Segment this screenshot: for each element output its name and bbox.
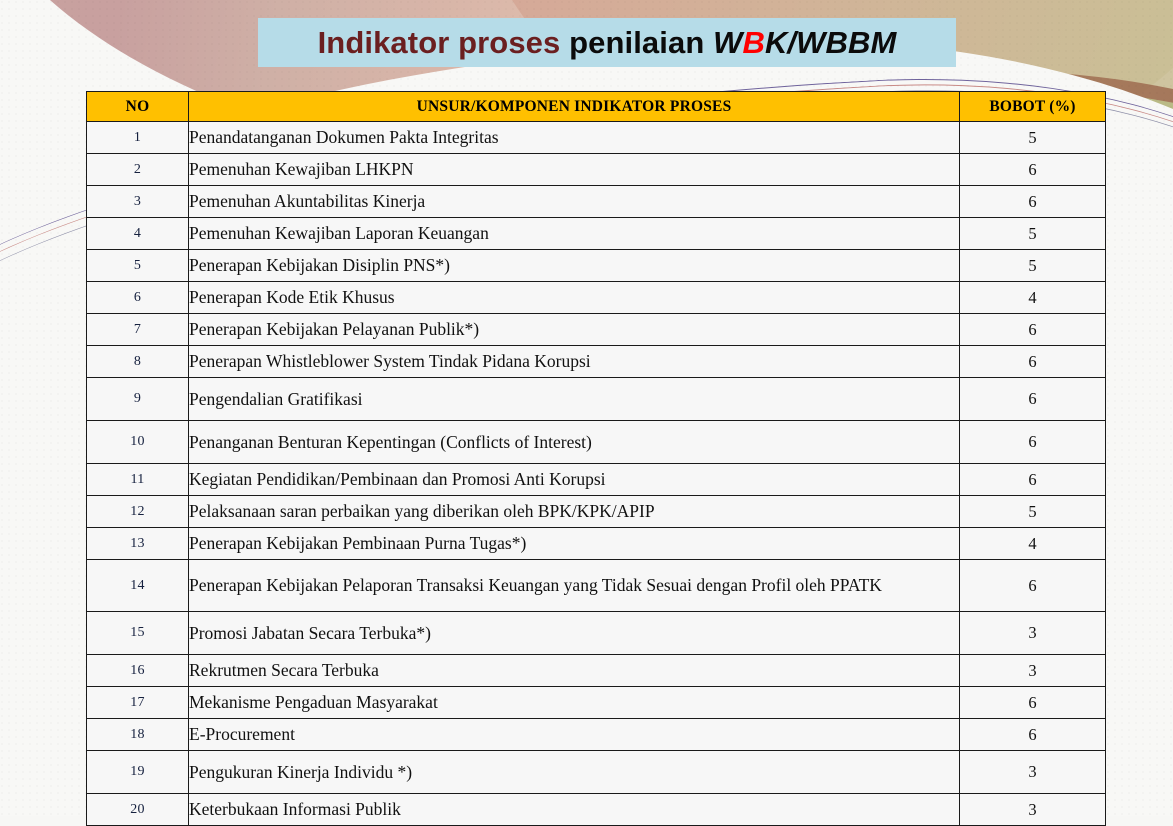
table-row: 2Pemenuhan Kewajiban LHKPN6 (87, 154, 1106, 186)
cell-no: 9 (87, 378, 189, 421)
cell-unsur: Promosi Jabatan Secara Terbuka*) (189, 612, 960, 655)
cell-bobot: 3 (960, 655, 1106, 687)
cell-no: 18 (87, 719, 189, 751)
cell-bobot: 6 (960, 687, 1106, 719)
cell-unsur: E-Procurement (189, 719, 960, 751)
cell-bobot: 3 (960, 612, 1106, 655)
cell-bobot: 5 (960, 496, 1106, 528)
cell-unsur: Rekrutmen Secara Terbuka (189, 655, 960, 687)
cell-no: 15 (87, 612, 189, 655)
table-row: 16Rekrutmen Secara Terbuka3 (87, 655, 1106, 687)
cell-unsur: Pemenuhan Kewajiban Laporan Keuangan (189, 218, 960, 250)
cell-unsur: Penerapan Kebijakan Pelaporan Transaksi … (189, 560, 960, 612)
page-title-part-3: B (742, 25, 765, 60)
cell-no: 14 (87, 560, 189, 612)
cell-unsur: Mekanisme Pengaduan Masyarakat (189, 687, 960, 719)
cell-bobot: 6 (960, 314, 1106, 346)
cell-unsur: Penandatanganan Dokumen Pakta Integritas (189, 122, 960, 154)
column-header-no: NO (87, 92, 189, 122)
table-row: 1Penandatanganan Dokumen Pakta Integrita… (87, 122, 1106, 154)
cell-unsur: Penerapan Kebijakan Pelayanan Publik*) (189, 314, 960, 346)
cell-bobot: 5 (960, 122, 1106, 154)
cell-bobot: 6 (960, 464, 1106, 496)
cell-bobot: 6 (960, 186, 1106, 218)
cell-no: 16 (87, 655, 189, 687)
cell-no: 10 (87, 421, 189, 464)
table-row: 8Penerapan Whistleblower System Tindak P… (87, 346, 1106, 378)
table-row: 15Promosi Jabatan Secara Terbuka*)3 (87, 612, 1106, 655)
table-row: 10Penanganan Benturan Kepentingan (Confl… (87, 421, 1106, 464)
table-row: 18E-Procurement6 (87, 719, 1106, 751)
table-header-row: NO UNSUR/KOMPONEN INDIKATOR PROSES BOBOT… (87, 92, 1106, 122)
page-title-part-1: penilaian (560, 25, 713, 60)
cell-no: 5 (87, 250, 189, 282)
cell-no: 3 (87, 186, 189, 218)
table-row: 11Kegiatan Pendidikan/Pembinaan dan Prom… (87, 464, 1106, 496)
cell-no: 12 (87, 496, 189, 528)
cell-bobot: 3 (960, 794, 1106, 826)
page-title-part-0: Indikator proses (318, 25, 561, 60)
cell-bobot: 4 (960, 528, 1106, 560)
cell-no: 2 (87, 154, 189, 186)
cell-no: 1 (87, 122, 189, 154)
cell-bobot: 6 (960, 421, 1106, 464)
column-header-unsur: UNSUR/KOMPONEN INDIKATOR PROSES (189, 92, 960, 122)
table-row: 12Pelaksanaan saran perbaikan yang diber… (87, 496, 1106, 528)
table-row: 4Pemenuhan Kewajiban Laporan Keuangan5 (87, 218, 1106, 250)
cell-bobot: 5 (960, 250, 1106, 282)
cell-no: 4 (87, 218, 189, 250)
cell-bobot: 6 (960, 346, 1106, 378)
cell-unsur: Pelaksanaan saran perbaikan yang diberik… (189, 496, 960, 528)
indicator-table: NO UNSUR/KOMPONEN INDIKATOR PROSES BOBOT… (86, 91, 1106, 826)
cell-no: 8 (87, 346, 189, 378)
cell-unsur: Pemenuhan Kewajiban LHKPN (189, 154, 960, 186)
cell-unsur: Keterbukaan Informasi Publik (189, 794, 960, 826)
column-header-bobot: BOBOT (%) (960, 92, 1106, 122)
cell-no: 11 (87, 464, 189, 496)
cell-no: 13 (87, 528, 189, 560)
page-title-part-2: W (713, 25, 742, 60)
cell-no: 6 (87, 282, 189, 314)
table-row: 9Pengendalian Gratifikasi6 (87, 378, 1106, 421)
table-header: NO UNSUR/KOMPONEN INDIKATOR PROSES BOBOT… (87, 92, 1106, 122)
cell-unsur: Penanganan Benturan Kepentingan (Conflic… (189, 421, 960, 464)
cell-no: 20 (87, 794, 189, 826)
cell-no: 7 (87, 314, 189, 346)
table-row: 5Penerapan Kebijakan Disiplin PNS*)5 (87, 250, 1106, 282)
cell-unsur: Penerapan Kebijakan Pembinaan Purna Tuga… (189, 528, 960, 560)
cell-no: 17 (87, 687, 189, 719)
cell-bobot: 4 (960, 282, 1106, 314)
cell-bobot: 6 (960, 719, 1106, 751)
cell-unsur: Pengukuran Kinerja Individu *) (189, 751, 960, 794)
cell-bobot: 6 (960, 154, 1106, 186)
cell-bobot: 5 (960, 218, 1106, 250)
cell-no: 19 (87, 751, 189, 794)
table-row: 17Mekanisme Pengaduan Masyarakat6 (87, 687, 1106, 719)
cell-unsur: Penerapan Whistleblower System Tindak Pi… (189, 346, 960, 378)
cell-bobot: 6 (960, 378, 1106, 421)
cell-bobot: 3 (960, 751, 1106, 794)
cell-unsur: Penerapan Kode Etik Khusus (189, 282, 960, 314)
page-title-part-4: K/WBBM (765, 25, 896, 60)
cell-bobot: 6 (960, 560, 1106, 612)
cell-unsur: Penerapan Kebijakan Disiplin PNS*) (189, 250, 960, 282)
indicator-table-container: NO UNSUR/KOMPONEN INDIKATOR PROSES BOBOT… (86, 91, 1105, 826)
table-row: 7Penerapan Kebijakan Pelayanan Publik*)6 (87, 314, 1106, 346)
table-row: 13Penerapan Kebijakan Pembinaan Purna Tu… (87, 528, 1106, 560)
slide-title-banner: Indikator proses penilaian WBK/WBBM (258, 18, 956, 67)
table-row: 19Pengukuran Kinerja Individu *)3 (87, 751, 1106, 794)
table-body: 1Penandatanganan Dokumen Pakta Integrita… (87, 122, 1106, 826)
cell-unsur: Pengendalian Gratifikasi (189, 378, 960, 421)
table-row: 14Penerapan Kebijakan Pelaporan Transaks… (87, 560, 1106, 612)
table-row: 3Pemenuhan Akuntabilitas Kinerja6 (87, 186, 1106, 218)
table-row: 20Keterbukaan Informasi Publik3 (87, 794, 1106, 826)
cell-unsur: Pemenuhan Akuntabilitas Kinerja (189, 186, 960, 218)
cell-unsur: Kegiatan Pendidikan/Pembinaan dan Promos… (189, 464, 960, 496)
page-title: Indikator proses penilaian WBK/WBBM (318, 27, 897, 58)
table-row: 6Penerapan Kode Etik Khusus4 (87, 282, 1106, 314)
